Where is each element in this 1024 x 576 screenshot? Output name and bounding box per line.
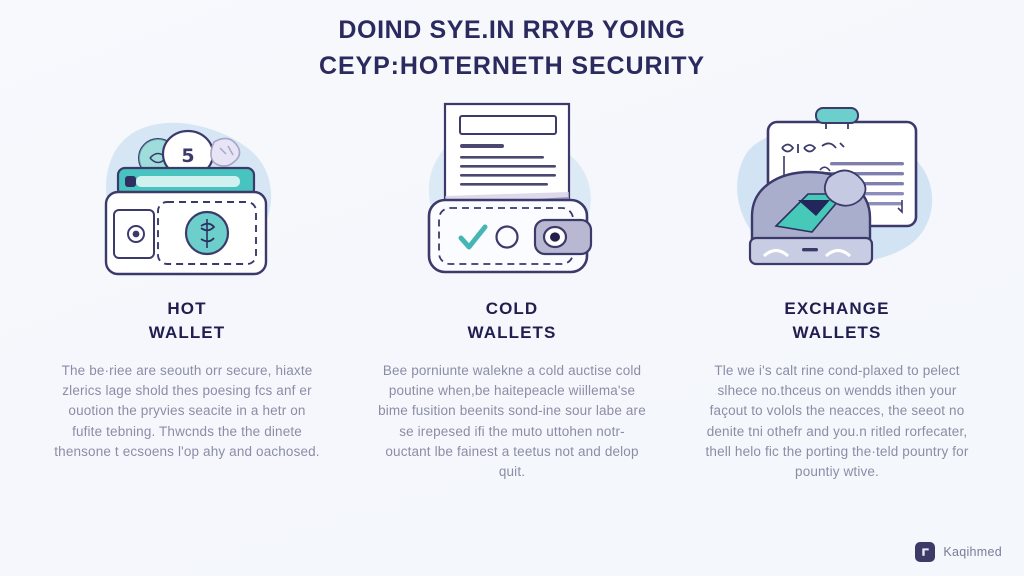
heading-line-1: HOT: [167, 299, 206, 318]
watermark-label: Kaqihmed: [943, 545, 1002, 559]
title-line-2: CEYP:HOTERNETH SECURITY: [0, 48, 1024, 84]
column-heading-hot-wallet: HOT WALLET: [149, 297, 225, 345]
column-body-hot-wallet: The be·riee are seouth orr secure, hiaxt…: [53, 361, 321, 462]
hot-wallet-illustration: 5: [62, 96, 312, 281]
column-body-cold-wallets: Bee porniunte walekne a cold auctise col…: [378, 361, 646, 482]
title-line-1: DOIND SYE.IN RRYB YOING: [0, 12, 1024, 48]
column-heading-exchange-wallets: EXCHANGE WALLETS: [784, 297, 889, 345]
column-heading-cold-wallets: COLD WALLETS: [468, 297, 557, 345]
heading-line-1: EXCHANGE: [784, 299, 889, 318]
page-title: DOIND SYE.IN RRYB YOING CEYP:HOTERNETH S…: [0, 12, 1024, 84]
infographic-poster: DOIND SYE.IN RRYB YOING CEYP:HOTERNETH S…: [0, 0, 1024, 576]
cold-wallet-illustration: [387, 96, 637, 281]
heading-line-1: COLD: [486, 299, 539, 318]
svg-text:5: 5: [181, 145, 194, 167]
heading-line-2: WALLETS: [784, 321, 889, 345]
heading-line-2: WALLETS: [468, 321, 557, 345]
heading-line-2: WALLET: [149, 321, 225, 345]
column-cold-wallets: COLD WALLETS Bee porniunte walekne a col…: [357, 96, 667, 496]
column-exchange-wallets: EXCHANGE WALLETS Tle we i's calt rine co…: [682, 96, 992, 496]
bookmark-flag-icon: [915, 542, 935, 562]
exchange-wallet-illustration: [712, 96, 962, 281]
column-body-exchange-wallets: Tle we i's calt rine cond-plaxed to pele…: [703, 361, 971, 482]
wallet-columns: 5: [0, 96, 1024, 556]
watermark[interactable]: Kaqihmed: [915, 542, 1002, 562]
column-hot-wallet: 5: [32, 96, 342, 476]
